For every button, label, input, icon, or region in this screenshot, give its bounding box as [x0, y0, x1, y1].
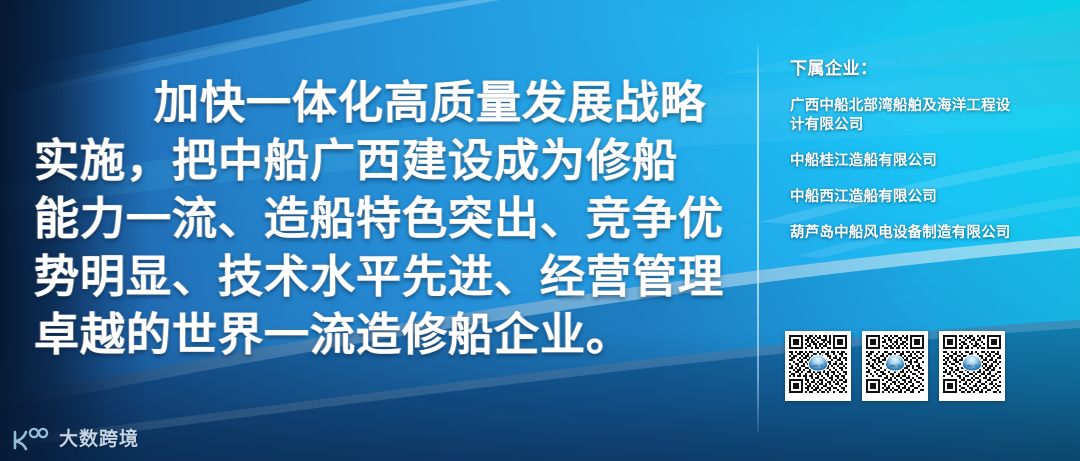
poster-canvas: 加快一体化高质量发展战略 实施，把中船广西建设成为修船 能力一流、造船特色突出、…: [0, 0, 1080, 461]
qr-code-2[interactable]: 中船广西: [862, 331, 928, 401]
subsidiaries-title: 下属企业：: [790, 58, 1058, 80]
headline-line-5: 卓越的世界一流造修船企业。: [34, 306, 740, 364]
headline-line-4: 势明显、技术水平先进、经营管理: [34, 248, 740, 306]
subsidiary-item: 中船西江造船有限公司: [790, 188, 1024, 207]
vertical-divider: [757, 44, 759, 432]
qr-code-row: 中船广西: [785, 331, 1005, 401]
subsidiary-item: 广西中船北部湾船舶及海洋工程设计有限公司: [790, 97, 1024, 135]
headline-line-2: 实施，把中船广西建设成为修船: [34, 132, 740, 190]
subsidiaries-panel: 下属企业： 广西中船北部湾船舶及海洋工程设计有限公司 中船桂江造船有限公司 中船…: [790, 58, 1058, 260]
qr-logo-label: 中船广西: [887, 364, 902, 367]
headline-line-1: 加快一体化高质量发展战略: [34, 74, 740, 132]
watermark-text: 大数跨境: [59, 430, 139, 449]
qr-center-logo-icon: 中船广西: [808, 355, 828, 372]
qr-logo-label: 中船广西: [964, 364, 979, 367]
headline-line-3: 能力一流、造船特色突出、竞争优: [34, 190, 740, 248]
headline-block: 加快一体化高质量发展战略 实施，把中船广西建设成为修船 能力一流、造船特色突出、…: [34, 74, 740, 364]
qr-center-logo-icon: 中船广西: [885, 355, 905, 372]
qr-logo-label: 中船广西: [810, 364, 825, 367]
qr-code-3[interactable]: 中船广西: [939, 331, 1005, 401]
watermark: 大数跨境: [10, 426, 139, 452]
subsidiary-item: 葫芦岛中船风电设备制造有限公司: [790, 224, 1024, 243]
qr-code-1[interactable]: 中船广西: [785, 331, 851, 401]
subsidiary-item: 中船桂江造船有限公司: [790, 152, 1024, 171]
qr-center-logo-icon: 中船广西: [962, 355, 982, 372]
brand-logo-icon: [10, 426, 52, 452]
